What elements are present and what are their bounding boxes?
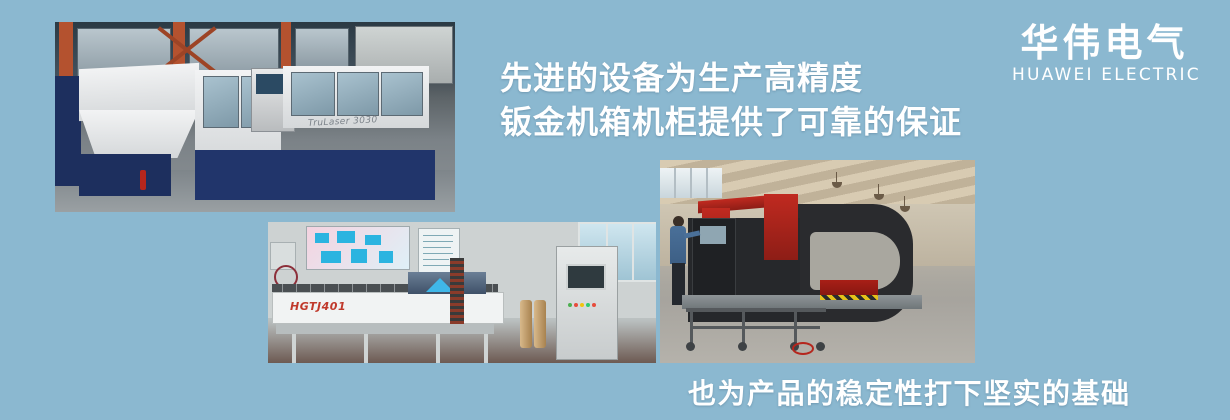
side-cabinet xyxy=(55,76,81,186)
factory-window xyxy=(295,28,349,70)
gas-cylinder xyxy=(534,300,546,348)
machine-base-left xyxy=(79,154,171,196)
table-leg xyxy=(484,334,488,363)
control-panel-screen[interactable] xyxy=(700,226,726,244)
headline-line-2: 钣金机箱机柜提供了可靠的保证 xyxy=(500,100,962,144)
laser-hopper xyxy=(79,110,199,158)
headline-line-1: 先进的设备为生产高精度 xyxy=(500,56,962,100)
sheet-metal-table xyxy=(682,295,922,309)
cnc-display-screen[interactable] xyxy=(566,264,606,290)
red-ram-housing xyxy=(764,194,798,260)
auxiliary-unit xyxy=(820,280,878,300)
gas-cylinder xyxy=(520,300,532,348)
table-leg xyxy=(364,334,368,363)
work-table xyxy=(276,324,494,334)
machine-model-label: HGTJ401 xyxy=(290,300,346,313)
headline-text: 先进的设备为生产高精度 钣金机箱机柜提供了可靠的保证 xyxy=(500,56,962,144)
tagline-text: 也为产品的稳定性打下坚实的基础 xyxy=(688,372,1131,412)
pressure-gauge-panel xyxy=(270,242,296,270)
table-leg xyxy=(436,334,440,363)
promotional-banner: TruLaser 3030 xyxy=(0,0,1230,420)
photo-cnc-cutting-machine: HGTJ401 xyxy=(268,222,656,363)
enclosure-window xyxy=(337,72,379,116)
cabin-window xyxy=(203,76,239,128)
cnc-button-row[interactable] xyxy=(568,292,602,298)
table-leg xyxy=(292,334,296,363)
clerestory-windows xyxy=(660,168,722,198)
logo-english-name: HUAWEI ELECTRIC xyxy=(1012,64,1197,86)
enclosure-window xyxy=(291,72,335,116)
company-logo[interactable]: 华伟电气 HUAWEI ELECTRIC xyxy=(1012,22,1197,86)
wall-chart-poster xyxy=(306,226,410,270)
enclosure-window xyxy=(381,72,423,116)
fire-extinguisher xyxy=(140,170,146,190)
cable-coil xyxy=(792,342,814,355)
cable-drag-chain xyxy=(450,258,464,324)
photo-laser-cutting-machine: TruLaser 3030 xyxy=(55,22,455,212)
photo-cnc-turret-punch-press xyxy=(660,160,975,363)
worker-torso xyxy=(670,226,686,264)
machine-base xyxy=(195,150,435,200)
logo-chinese-name: 华伟电气 xyxy=(1012,22,1197,64)
wall-column xyxy=(59,22,73,84)
